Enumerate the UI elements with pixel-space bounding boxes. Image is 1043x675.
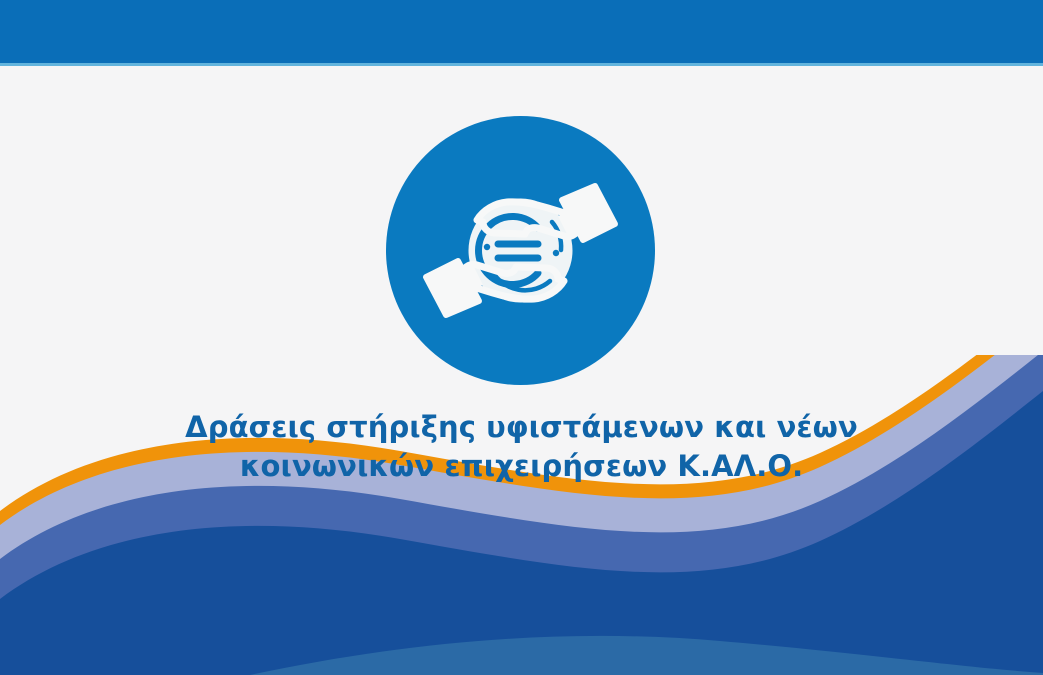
hands-holding-euro-coin-icon <box>386 116 655 385</box>
header-underline <box>0 63 1043 66</box>
wave-ribbon <box>0 355 1043 675</box>
page-title-line-2: κοινωνικών επιχειρήσεων Κ.ΑΛ.Ο. <box>0 447 1043 486</box>
poster-canvas: Δράση Ενίσχυσης Κ.ΑΛ.Ο. Περιφέρειας Κεντ… <box>0 0 1043 675</box>
page-title-line-1: Δράσεις στήριξης υφιστάμενων και νέων <box>0 408 1043 447</box>
header-bar <box>0 0 1043 63</box>
page-title: Δράσεις στήριξης υφιστάμενων και νέων κο… <box>0 408 1043 485</box>
hands-coin-glyph <box>386 116 655 385</box>
